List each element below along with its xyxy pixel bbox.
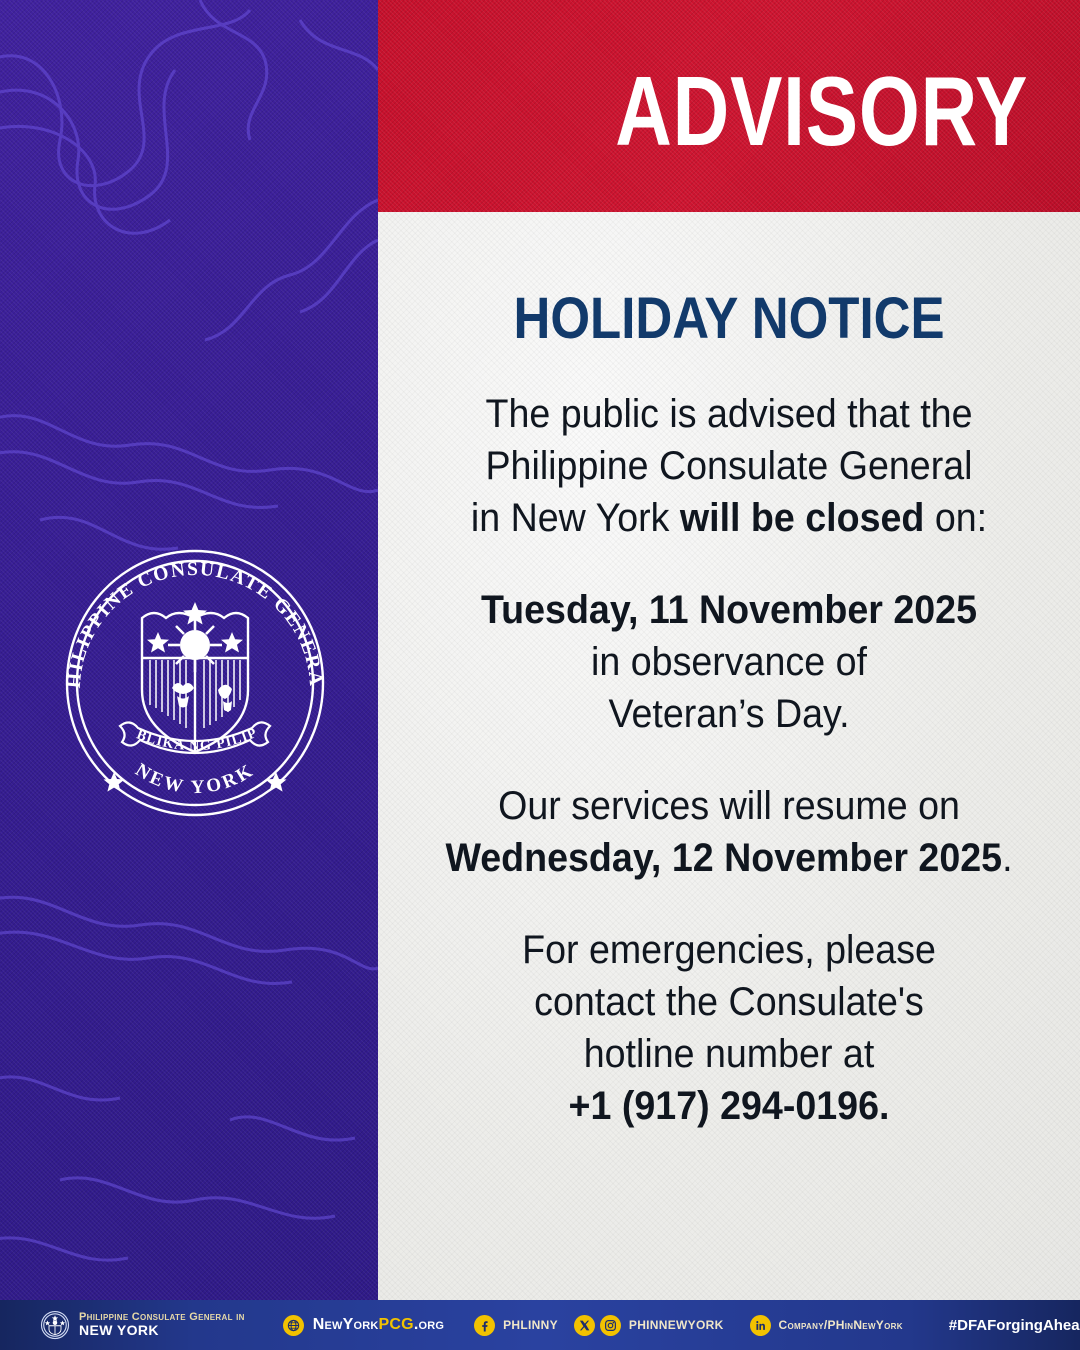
website-text: NewYorkPCG.org [313, 1316, 444, 1334]
resume-period: . [1002, 836, 1012, 880]
holiday-notice-title: HOLIDAY NOTICE [420, 290, 1038, 348]
advisory-title: ADVISORY [615, 62, 1028, 160]
seal-arc-bottom: NEW YORK [131, 759, 258, 798]
website-mid: PCG [379, 1316, 414, 1333]
resume-date: Wednesday, 12 November 2025 [445, 836, 1002, 880]
facebook-icon [474, 1315, 495, 1336]
resume-line: Our services will resume on [428, 780, 1030, 832]
intro-line-1: The public is advised that the [428, 388, 1030, 440]
intro-line-3-pre: in New York [471, 496, 680, 540]
campaign-hashtag: #DFAForgingAhead [949, 1317, 1080, 1334]
linkedin-link[interactable]: Company/PHinNewYork [750, 1315, 903, 1336]
closed-emphasis: will be closed [680, 496, 924, 540]
footer-org-line-2: NEW YORK [79, 1323, 245, 1338]
notice-body: The public is advised that the Philippin… [428, 388, 1030, 1132]
advisory-poster: PHILIPPINE CONSULATE GENERAL NEW YORK [0, 0, 1080, 1350]
consulate-seal: PHILIPPINE CONSULATE GENERAL NEW YORK [50, 540, 340, 825]
intro-line-3: in New York will be closed on: [428, 492, 1030, 544]
emergency-line-2: contact the Consulate's [428, 976, 1030, 1028]
x-instagram-links[interactable]: PHINNEWYORK [574, 1315, 724, 1336]
footer-bar: Philippine Consulate General in NEW YORK… [0, 1300, 1080, 1350]
right-content-column: ADVISORY HOLIDAY NOTICE The public is ad… [378, 0, 1080, 1350]
linkedin-icon [750, 1315, 771, 1336]
notice-panel: HOLIDAY NOTICE The public is advised tha… [378, 212, 1080, 1300]
facebook-link[interactable]: PHLINNY [474, 1315, 558, 1336]
emergency-line-3: hotline number at [428, 1028, 1030, 1080]
footer-seal-icon [40, 1310, 70, 1340]
website-suffix: .org [414, 1316, 444, 1333]
left-blue-panel: PHILIPPINE CONSULATE GENERAL NEW YORK [0, 0, 378, 1350]
closure-date: Tuesday, 11 November 2025 [428, 584, 1030, 636]
resume-date-line: Wednesday, 12 November 2025. [428, 832, 1030, 884]
facebook-handle: PHLINNY [503, 1318, 558, 1332]
intro-line-3-post: on: [924, 496, 987, 540]
intro-line-2: Philippine Consulate General [428, 440, 1030, 492]
svg-text:NEW YORK: NEW YORK [131, 759, 258, 798]
x-twitter-icon [574, 1315, 595, 1336]
hotline-number: +1 (917) 294-0196. [428, 1080, 1030, 1132]
globe-icon [283, 1315, 304, 1336]
advisory-header-band: ADVISORY [378, 0, 1080, 212]
emergency-line-1: For emergencies, please [428, 924, 1030, 976]
observance-line: in observance of [428, 636, 1030, 688]
website-prefix: NewYork [313, 1316, 379, 1333]
footer-organization: Philippine Consulate General in NEW YORK [79, 1312, 245, 1338]
holiday-name: Veteran’s Day. [428, 688, 1030, 740]
website-link[interactable]: NewYorkPCG.org [283, 1315, 444, 1336]
social-handle: PHINNEWYORK [629, 1318, 724, 1332]
linkedin-handle: Company/PHinNewYork [779, 1318, 903, 1332]
instagram-icon [600, 1315, 621, 1336]
